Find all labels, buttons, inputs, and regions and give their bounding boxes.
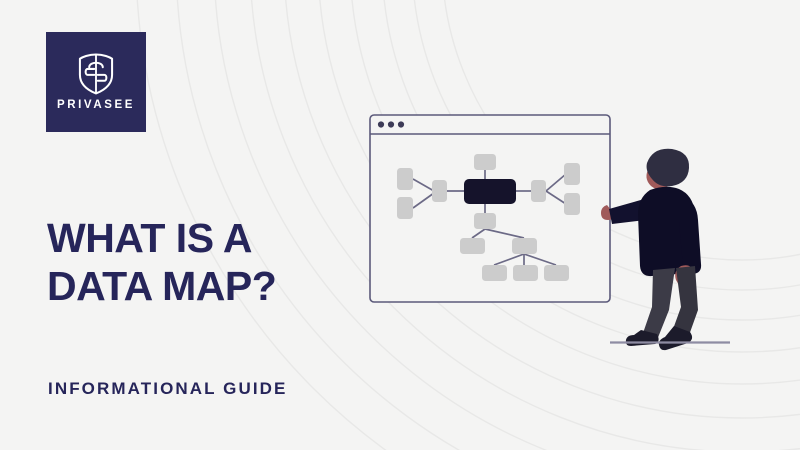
node-right-mid xyxy=(531,180,546,202)
node-tree-right xyxy=(512,238,537,254)
walking-person-figure xyxy=(601,149,701,350)
data-map-illustration xyxy=(0,0,800,450)
node-left-outer-top xyxy=(397,168,413,190)
node-leaf-2 xyxy=(513,265,538,281)
window-dot-3 xyxy=(398,121,404,127)
slide-canvas: PRIVASEE WHAT IS A DATA MAP? INFORMATION… xyxy=(0,0,800,450)
window-dot-1 xyxy=(378,121,384,127)
node-leaf-1 xyxy=(482,265,507,281)
node-tree-left xyxy=(460,238,485,254)
node-bottom xyxy=(474,213,496,229)
node-top xyxy=(474,154,496,170)
node-right-outer-top xyxy=(564,163,580,185)
node-left-mid xyxy=(432,180,447,202)
node-leaf-3 xyxy=(544,265,569,281)
central-hub-node xyxy=(464,179,516,204)
window-dot-2 xyxy=(388,121,394,127)
node-left-outer-bottom xyxy=(397,197,413,219)
person-back-leg xyxy=(642,268,675,340)
node-right-outer-bottom xyxy=(564,193,580,215)
